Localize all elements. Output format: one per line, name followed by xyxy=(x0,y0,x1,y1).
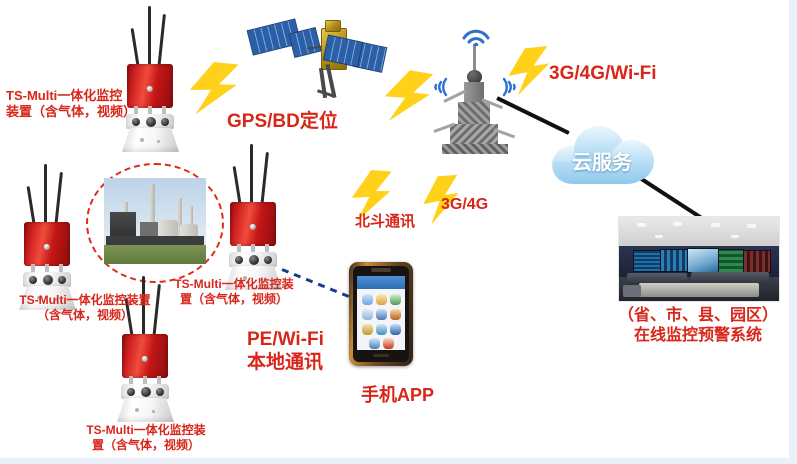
label-gps-bd: GPS/BD定位 xyxy=(227,110,338,133)
label-device-top-left: TS-Multi一体化监控 装置（含气体，视频） xyxy=(6,88,136,120)
label-device-bottom: TS-Multi一体化监控装 置（含气体，视频） xyxy=(70,423,222,452)
cloud-service-icon: 云服务 xyxy=(546,122,658,188)
label-monitor-center: （省、市、县、园区） 在线监控预警系统 xyxy=(600,306,796,345)
wifi-signal-right-icon xyxy=(498,76,520,98)
label-3g4g: 3G/4G xyxy=(441,195,488,215)
refinery-plant-photo xyxy=(104,178,206,264)
diagram-canvas: 云服务 xyxy=(0,0,797,464)
label-phone-app: 手机APP xyxy=(361,385,434,407)
label-device-mid-center: TS-Multi一体化监控装 置（含气体，视频） xyxy=(160,277,308,306)
handheld-app-device[interactable] xyxy=(349,262,413,366)
cell-tower-icon xyxy=(424,18,528,154)
label-device-mid-left: TS-Multi一体化监控装置 （含气体，视频） xyxy=(0,293,170,322)
label-pe-wifi-local: PE/Wi-Fi 本地通讯 xyxy=(247,328,324,374)
wifi-signal-left-icon xyxy=(430,76,452,98)
wifi-signal-top-icon xyxy=(460,24,492,46)
ts-multi-device-top-left xyxy=(112,2,188,152)
cloud-label: 云服务 xyxy=(546,146,658,175)
label-beidou: 北斗通讯 xyxy=(355,213,415,231)
label-3g4g-wifi: 3G/4G/Wi-Fi xyxy=(549,62,657,85)
satellite-icon xyxy=(247,12,395,104)
page-edge-bottom xyxy=(0,458,797,464)
page-edge-right xyxy=(789,0,797,464)
control-room-photo xyxy=(618,216,780,302)
ts-multi-device-mid-left xyxy=(10,162,86,312)
ts-multi-device-mid-center xyxy=(216,142,292,292)
